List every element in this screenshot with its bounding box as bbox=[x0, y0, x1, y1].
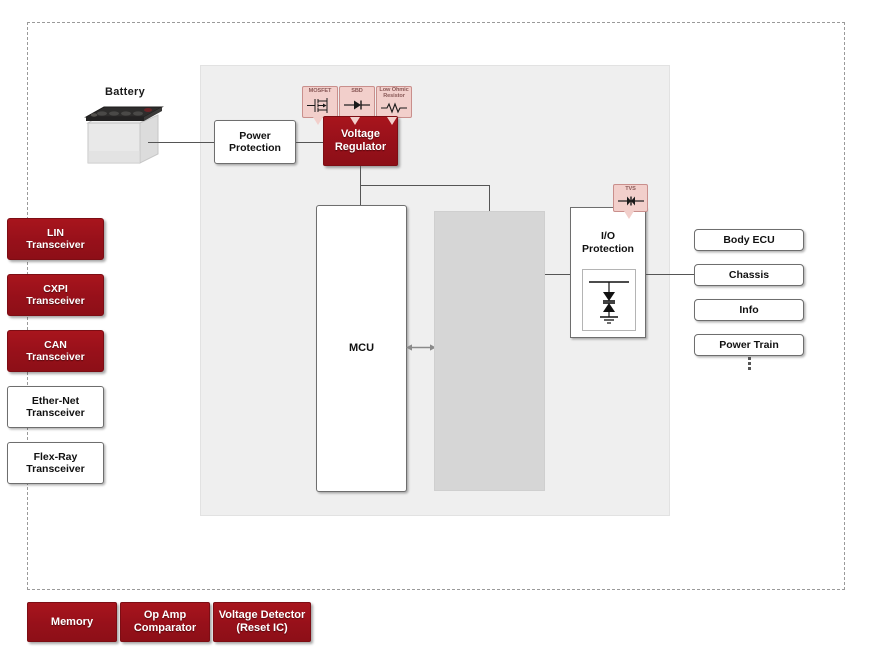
ecu-list-item-body-ecu[interactable]: Body ECU bbox=[694, 229, 804, 251]
tag-tvs: TVS bbox=[613, 184, 648, 212]
line-io-protection-to-ecu-list bbox=[646, 274, 694, 275]
ethernet-transceiver-label-line2: Transceiver bbox=[26, 407, 84, 419]
tag-mosfet-label: MOSFET bbox=[303, 89, 337, 95]
ecu-list-item-power-train-label: Power Train bbox=[719, 339, 779, 351]
mcu-label: MCU bbox=[349, 342, 374, 355]
line-transceivers-to-io-protection bbox=[545, 274, 571, 275]
legend-voltage-detector-label-line2: (Reset IC) bbox=[219, 622, 306, 635]
io-protection-label-line1: I/O bbox=[601, 230, 615, 242]
tag-tvs-pointer bbox=[624, 211, 634, 219]
ethernet-transceiver-block[interactable]: Ether-Net Transceiver bbox=[7, 386, 104, 428]
line-branch-to-transceiver-group bbox=[489, 185, 490, 211]
legend-op-amp-label-line1: Op Amp bbox=[134, 609, 196, 622]
io-protection-label-line2: Protection bbox=[582, 243, 634, 255]
lin-transceiver-label-line2: Transceiver bbox=[26, 239, 84, 251]
lin-transceiver-block[interactable]: LIN Transceiver bbox=[7, 218, 104, 260]
ecu-list-item-info[interactable]: Info bbox=[694, 299, 804, 321]
ecu-list-item-chassis-label: Chassis bbox=[729, 269, 769, 281]
ecu-list-item-info-label: Info bbox=[739, 304, 758, 316]
legend-memory-label: Memory bbox=[51, 616, 93, 629]
power-protection-label-line1: Power bbox=[229, 130, 281, 142]
mosfet-symbol-icon bbox=[303, 95, 337, 115]
resistor-symbol-icon bbox=[377, 101, 411, 115]
cxpi-transceiver-label-line1: CXPI bbox=[26, 283, 84, 295]
line-regulator-branch-right bbox=[360, 185, 490, 186]
power-protection-block[interactable]: Power Protection bbox=[214, 120, 296, 164]
tag-sbd-pointer bbox=[350, 117, 360, 125]
ecu-list-item-power-train[interactable]: Power Train bbox=[694, 334, 804, 356]
line-power-protection-to-regulator bbox=[296, 142, 324, 143]
legend-op-amp-label-line2: Comparator bbox=[134, 622, 196, 635]
ethernet-transceiver-label-line1: Ether-Net bbox=[26, 395, 84, 407]
voltage-regulator-label-line2: Regulator bbox=[335, 141, 386, 154]
flexray-transceiver-label-line1: Flex-Ray bbox=[26, 451, 84, 463]
battery-label: Battery bbox=[75, 86, 175, 98]
tvs-diode-symbol-icon bbox=[614, 193, 647, 209]
tag-low-ohmic-resistor: Low Ohmic Resistor bbox=[376, 86, 412, 118]
tvs-clamp-symbol bbox=[582, 269, 636, 331]
flexray-transceiver-label-line2: Transceiver bbox=[26, 463, 84, 475]
tag-resistor-label-line2: Resistor bbox=[383, 93, 405, 99]
voltage-regulator-label-line1: Voltage bbox=[335, 128, 386, 141]
can-transceiver-block[interactable]: CAN Transceiver bbox=[7, 330, 104, 372]
tag-low-ohmic-resistor-label: Low Ohmic Resistor bbox=[377, 88, 411, 100]
tag-sbd-label: SBD bbox=[340, 89, 374, 95]
ecu-block-diagram: Battery Power Protection bbox=[0, 0, 891, 649]
tag-tvs-label: TVS bbox=[614, 187, 647, 193]
cxpi-transceiver-block[interactable]: CXPI Transceiver bbox=[7, 274, 104, 316]
tag-mosfet-pointer bbox=[313, 117, 323, 125]
io-protection-block[interactable]: I/O Protection bbox=[570, 207, 646, 338]
diode-symbol-icon bbox=[340, 95, 374, 115]
power-protection-label-line2: Protection bbox=[229, 142, 281, 154]
ecu-list-continuation-ellipsis-icon bbox=[694, 355, 804, 372]
mcu-to-can-arrow bbox=[406, 342, 436, 353]
can-transceiver-label-line2: Transceiver bbox=[26, 351, 84, 363]
legend-voltage-detector-label-line1: Voltage Detector bbox=[219, 609, 306, 622]
transceiver-group-panel bbox=[434, 211, 545, 491]
flexray-transceiver-block[interactable]: Flex-Ray Transceiver bbox=[7, 442, 104, 484]
io-protection-label: I/O Protection bbox=[571, 230, 645, 255]
battery-icon bbox=[78, 101, 170, 169]
lin-transceiver-label-line1: LIN bbox=[26, 227, 84, 239]
line-battery-to-power-protection bbox=[148, 142, 215, 143]
tag-low-ohmic-resistor-pointer bbox=[387, 117, 397, 125]
legend-memory-block[interactable]: Memory bbox=[27, 602, 117, 642]
mcu-block[interactable]: MCU bbox=[316, 205, 407, 492]
tag-sbd: SBD bbox=[339, 86, 375, 118]
cxpi-transceiver-label-line2: Transceiver bbox=[26, 295, 84, 307]
can-transceiver-label-line1: CAN bbox=[26, 339, 84, 351]
legend-voltage-detector-block[interactable]: Voltage Detector (Reset IC) bbox=[213, 602, 311, 642]
ecu-list-item-chassis[interactable]: Chassis bbox=[694, 264, 804, 286]
tag-mosfet: MOSFET bbox=[302, 86, 338, 118]
legend-op-amp-comparator-block[interactable]: Op Amp Comparator bbox=[120, 602, 210, 642]
ecu-list-item-body-ecu-label: Body ECU bbox=[723, 234, 774, 246]
